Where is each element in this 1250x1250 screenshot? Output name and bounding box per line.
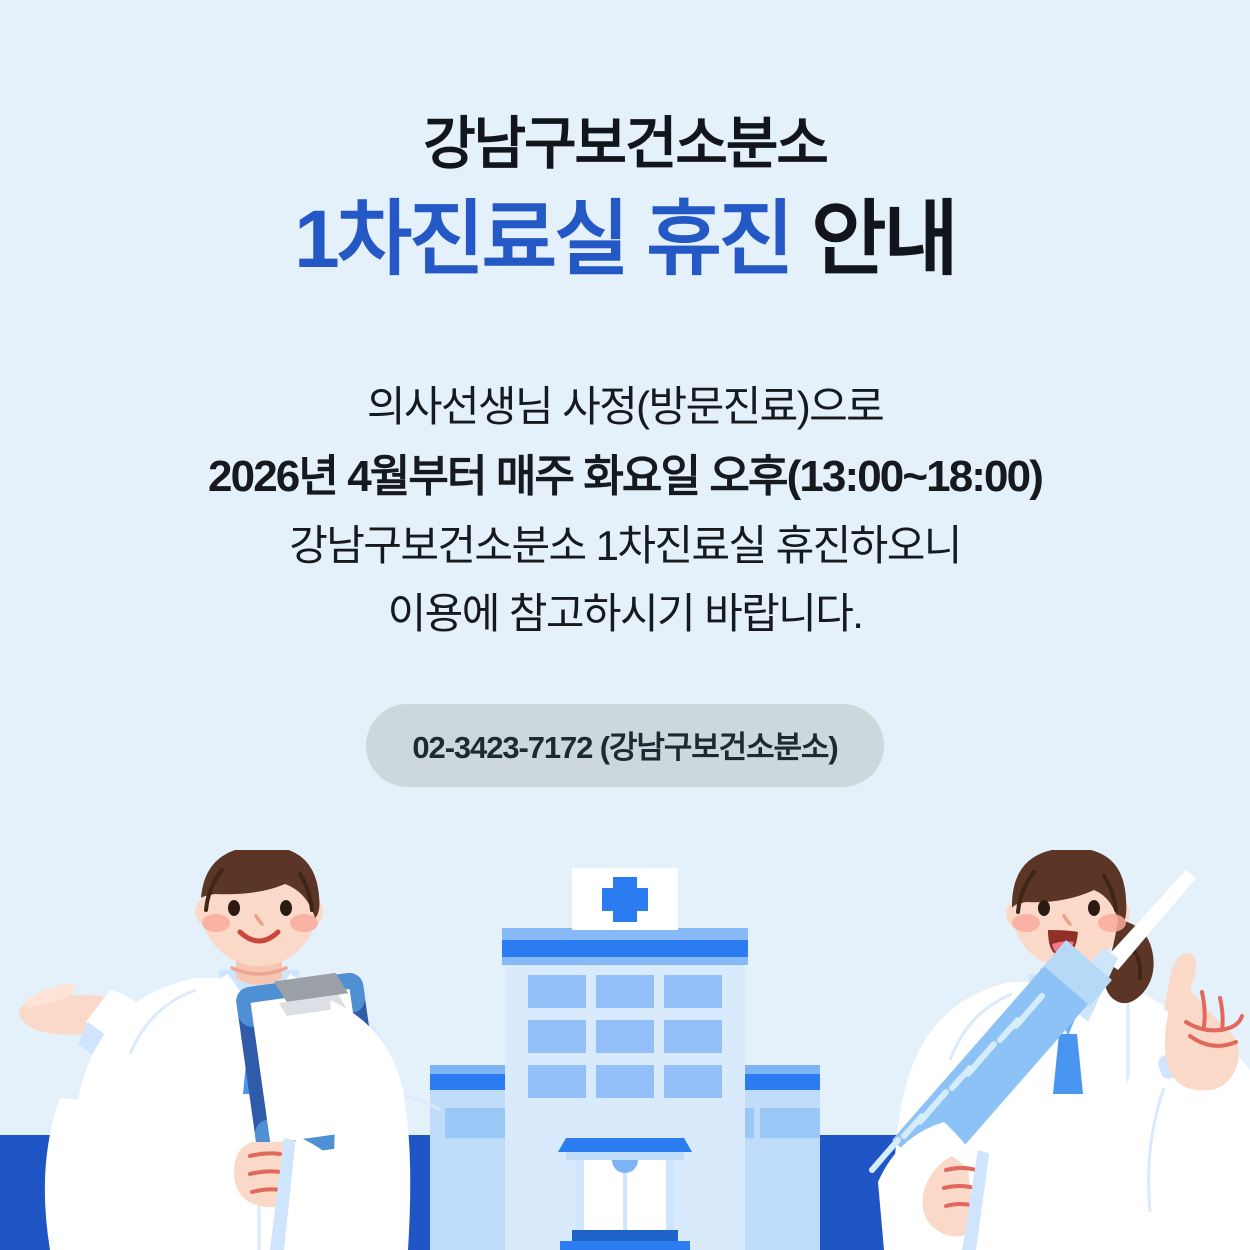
building-entrance	[558, 1138, 692, 1250]
notice-line-3: 강남구보건소분소 1차진료실 휴진하오니	[0, 512, 1250, 580]
notice-line-1: 의사선생님 사정(방문진료)으로	[0, 373, 1250, 441]
notice-line-2: 2026년 4월부터 매주 화요일 오후(13:00~18:00)	[0, 441, 1250, 512]
page-title-accent: 1차진료실 휴진	[294, 194, 791, 285]
notice-body: 의사선생님 사정(방문진료)으로 2026년 4월부터 매주 화요일 오후(13…	[0, 287, 1250, 648]
notice-line-4: 이용에 참고하시기 바랍니다.	[0, 580, 1250, 648]
page-title: 1차진료실 휴진 안내	[0, 178, 1250, 287]
poster-canvas: 강남구보건소분소 1차진료실 휴진 안내 의사선생님 사정(방문진료)으로 20…	[0, 0, 1250, 1250]
illustration-layer	[0, 850, 1250, 1250]
organization-name: 강남구보건소분소	[0, 0, 1250, 178]
page-title-rest: 안내	[791, 194, 956, 285]
contact-phone-pill[interactable]: 02-3423-7172 (강남구보건소분소)	[366, 704, 883, 787]
contact-row: 02-3423-7172 (강남구보건소분소)	[0, 704, 1250, 787]
building-windows	[528, 975, 722, 1098]
text-content-stack: 강남구보건소분소 1차진료실 휴진 안내 의사선생님 사정(방문진료)으로 20…	[0, 0, 1250, 787]
